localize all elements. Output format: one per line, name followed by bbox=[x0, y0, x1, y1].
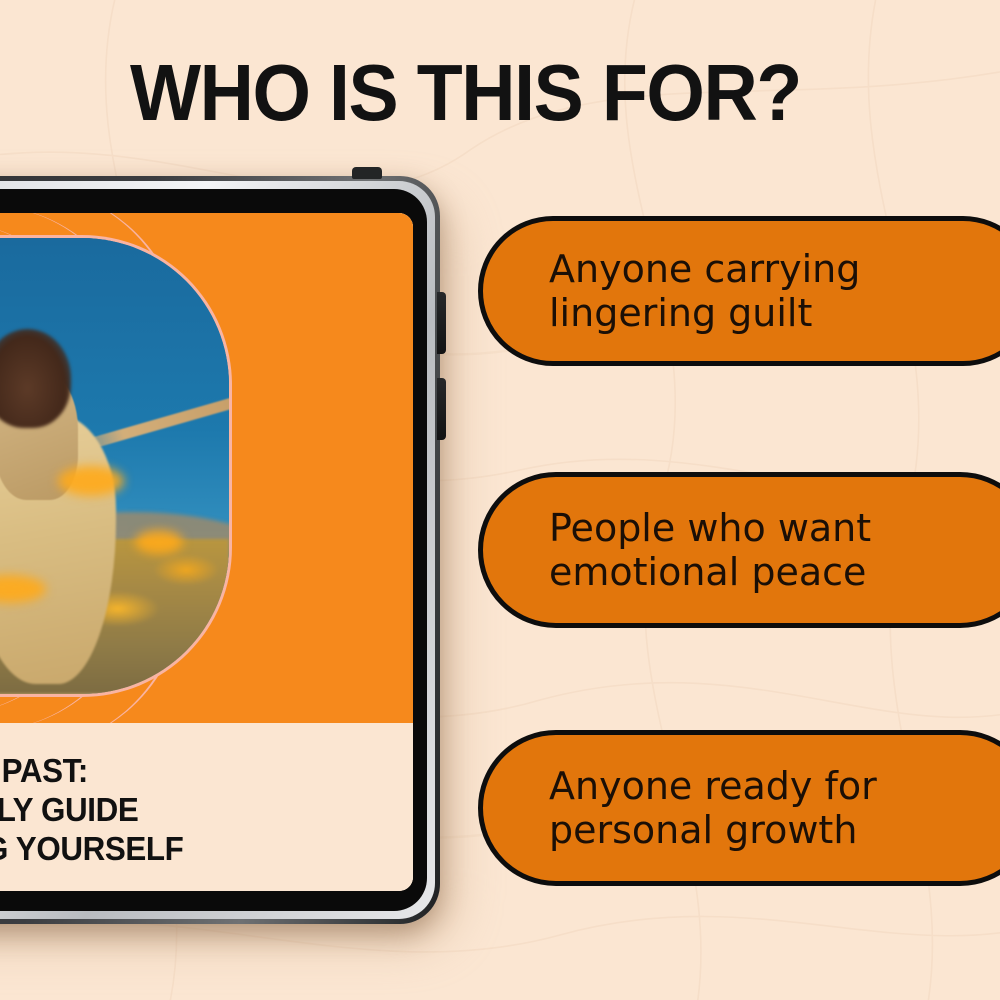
page-title: WHO IS THIS FOR? bbox=[130, 52, 844, 134]
audience-pill-3-text: Anyone ready for personal growth bbox=[483, 764, 897, 852]
photo-figure bbox=[0, 329, 135, 657]
audience-pill-1-line2: lingering guilt bbox=[549, 291, 860, 335]
book-cover-footer: HEALING THE PAST: YOUR FRIENDLY GUIDE TO… bbox=[0, 723, 413, 891]
audience-pill-2-line1: People who want bbox=[549, 506, 871, 550]
petal bbox=[135, 530, 183, 554]
petal bbox=[58, 466, 124, 496]
audience-pill-2-text: People who want emotional peace bbox=[483, 506, 891, 594]
audience-pill-1-line1: Anyone carrying bbox=[549, 247, 860, 291]
slide-canvas: WHO IS THIS FOR? bbox=[0, 0, 1000, 1000]
audience-pill-3-line2: personal growth bbox=[549, 808, 877, 852]
audience-pill-3-line1: Anyone ready for bbox=[549, 764, 877, 808]
audience-pill-3[interactable]: Anyone ready for personal growth bbox=[478, 730, 1000, 886]
book-cover-title: HEALING THE PAST: YOUR FRIENDLY GUIDE TO… bbox=[0, 751, 361, 868]
tablet-inner-ring: HEALING THE PAST: YOUR FRIENDLY GUIDE TO… bbox=[0, 181, 435, 919]
audience-pill-2[interactable]: People who want emotional peace bbox=[478, 472, 1000, 628]
book-cover-title-line: HEALING THE PAST: bbox=[0, 751, 361, 790]
book-cover-artwork bbox=[0, 213, 413, 723]
cover-photo bbox=[0, 235, 232, 697]
tablet-screen[interactable]: HEALING THE PAST: YOUR FRIENDLY GUIDE TO… bbox=[0, 213, 413, 891]
tablet-frame: HEALING THE PAST: YOUR FRIENDLY GUIDE TO… bbox=[0, 176, 440, 924]
book-cover-title-line: YOUR FRIENDLY GUIDE bbox=[0, 790, 361, 829]
audience-pill-1[interactable]: Anyone carrying lingering guilt bbox=[478, 216, 1000, 366]
camera-icon bbox=[352, 167, 382, 179]
book-cover: HEALING THE PAST: YOUR FRIENDLY GUIDE TO… bbox=[0, 213, 413, 891]
audience-pill-2-line2: emotional peace bbox=[549, 550, 871, 594]
tablet-bezel: HEALING THE PAST: YOUR FRIENDLY GUIDE TO… bbox=[0, 189, 427, 911]
power-button[interactable] bbox=[437, 378, 446, 440]
figure-hair bbox=[0, 329, 71, 427]
book-cover-title-line: TO FORGIVING YOURSELF bbox=[0, 829, 361, 868]
tablet-mockup: HEALING THE PAST: YOUR FRIENDLY GUIDE TO… bbox=[0, 176, 440, 924]
volume-button[interactable] bbox=[437, 292, 446, 354]
audience-pill-1-text: Anyone carrying lingering guilt bbox=[483, 247, 880, 335]
